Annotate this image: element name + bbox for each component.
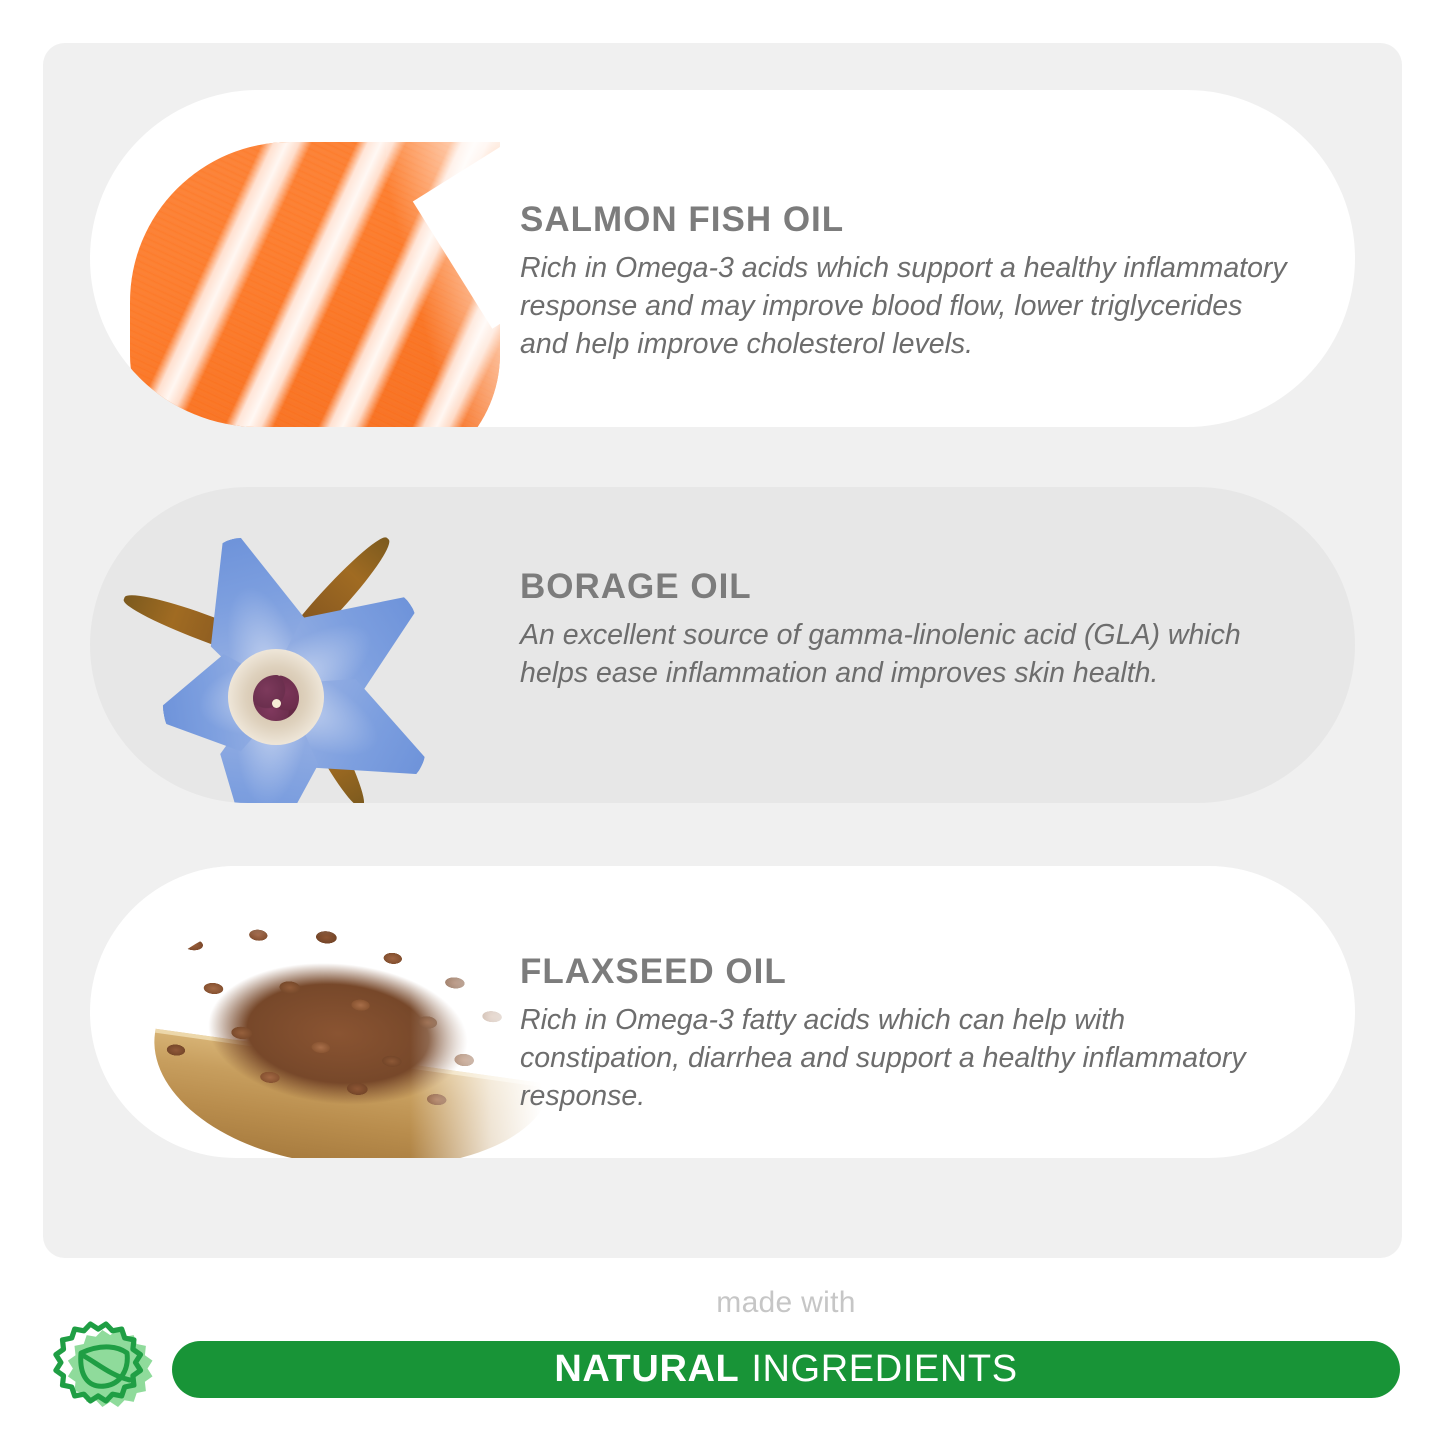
- ingredient-title: BORAGE OIL: [520, 487, 1325, 607]
- ingredients-panel: SALMON FISH OIL Rich in Omega-3 acids wh…: [43, 43, 1402, 1258]
- ingredient-description: An excellent source of gamma-linolenic a…: [520, 617, 1290, 693]
- made-with-label: made with: [172, 1286, 1400, 1320]
- flaxseed-image-well: [90, 866, 460, 1158]
- ingredient-description: Rich in Omega-3 acids which support a he…: [520, 250, 1290, 364]
- natural-ingredients-banner: NATURAL INGREDIENTS: [172, 1341, 1400, 1398]
- ingredient-title: FLAXSEED OIL: [520, 866, 1325, 992]
- borage-text-block: BORAGE OIL An excellent source of gamma-…: [520, 487, 1325, 803]
- salmon-text-block: SALMON FISH OIL Rich in Omega-3 acids wh…: [520, 90, 1325, 427]
- flaxseed-text-block: FLAXSEED OIL Rich in Omega-3 fatty acids…: [520, 866, 1325, 1158]
- banner-bold-text: NATURAL: [554, 1348, 739, 1391]
- salmon-fillet-photo: [130, 142, 500, 427]
- borage-image-well: [90, 487, 460, 803]
- banner-light-text: INGREDIENTS: [751, 1348, 1017, 1391]
- salmon-image-well: [90, 90, 460, 427]
- flaxseed-scoop-photo: [110, 896, 540, 1158]
- ingredient-card-borage-oil[interactable]: BORAGE OIL An excellent source of gamma-…: [90, 487, 1355, 803]
- flaxseed-top-fade: [90, 866, 560, 936]
- leaf-badge-icon: [48, 1312, 172, 1436]
- borage-stamen-tip: [272, 699, 281, 708]
- borage-flower-photo: [120, 493, 495, 803]
- borage-stamen-cone: [253, 675, 299, 721]
- ingredient-description: Rich in Omega-3 fatty acids which can he…: [520, 1002, 1290, 1116]
- ingredient-card-flaxseed-oil[interactable]: FLAXSEED OIL Rich in Omega-3 fatty acids…: [90, 866, 1355, 1158]
- ingredient-card-salmon-fish-oil[interactable]: SALMON FISH OIL Rich in Omega-3 acids wh…: [90, 90, 1355, 427]
- ingredient-title: SALMON FISH OIL: [520, 90, 1325, 240]
